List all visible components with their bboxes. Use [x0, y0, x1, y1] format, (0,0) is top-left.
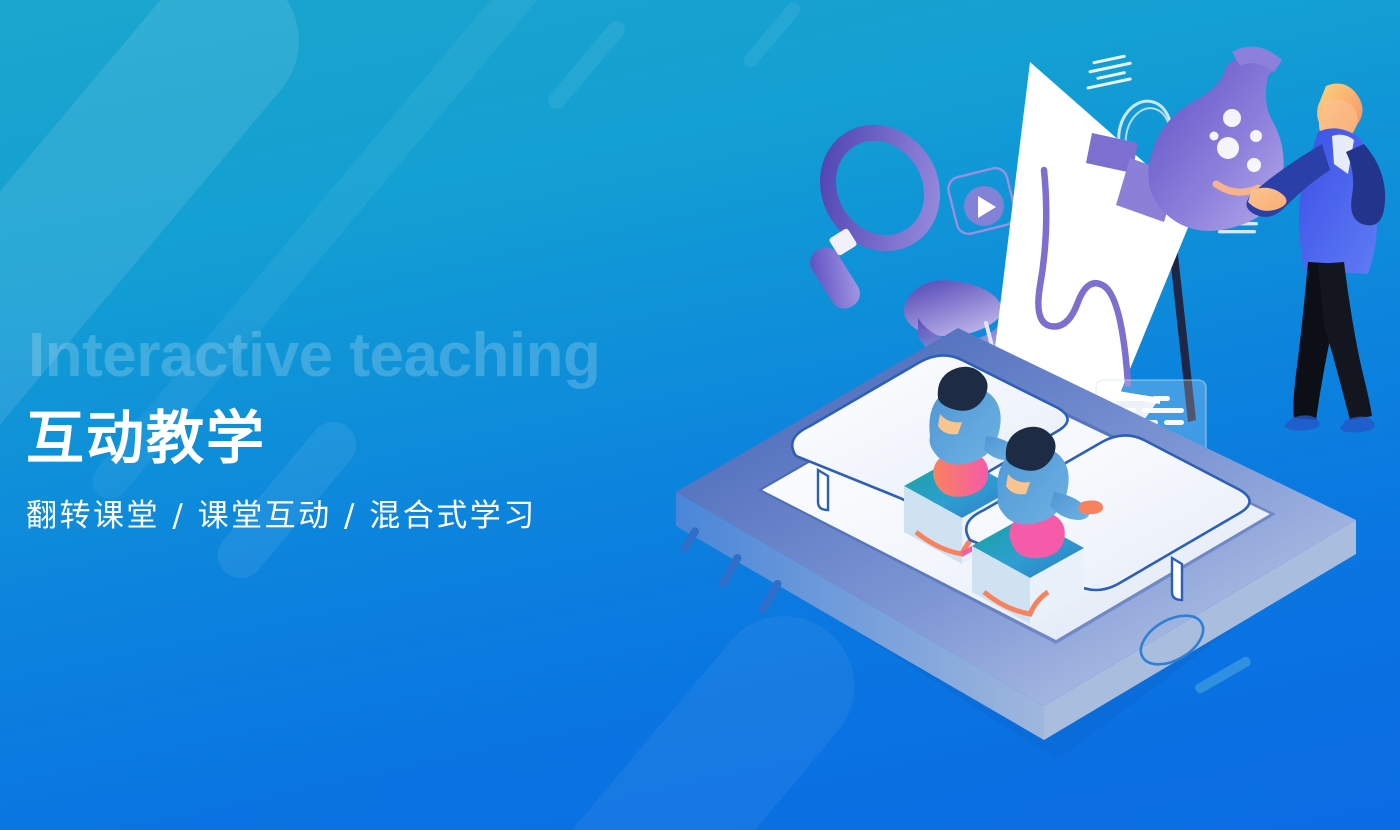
- annotation-text-lines: [1086, 54, 1132, 89]
- desk-back-leg: [818, 470, 828, 510]
- banner-ghost-title: Interactive teaching: [28, 325, 600, 387]
- play-button-icon: [946, 166, 1018, 237]
- desk-front-leg-right: [1172, 558, 1182, 600]
- tablet-device[interactable]: [676, 328, 1356, 760]
- student-front-hand: [1078, 500, 1103, 514]
- page-title: 互动教学: [26, 408, 266, 469]
- bg-stripe-short-top: [545, 17, 629, 112]
- tablet-bottom-accent: [1194, 655, 1253, 695]
- promo-banner: Interactive teaching 互动教学 翻转课堂 / 课堂互动 / …: [0, 0, 1400, 830]
- banner-subtitle: 翻转课堂 / 课堂互动 / 混合式学习: [26, 496, 537, 536]
- hero-illustration: [640, 40, 1400, 830]
